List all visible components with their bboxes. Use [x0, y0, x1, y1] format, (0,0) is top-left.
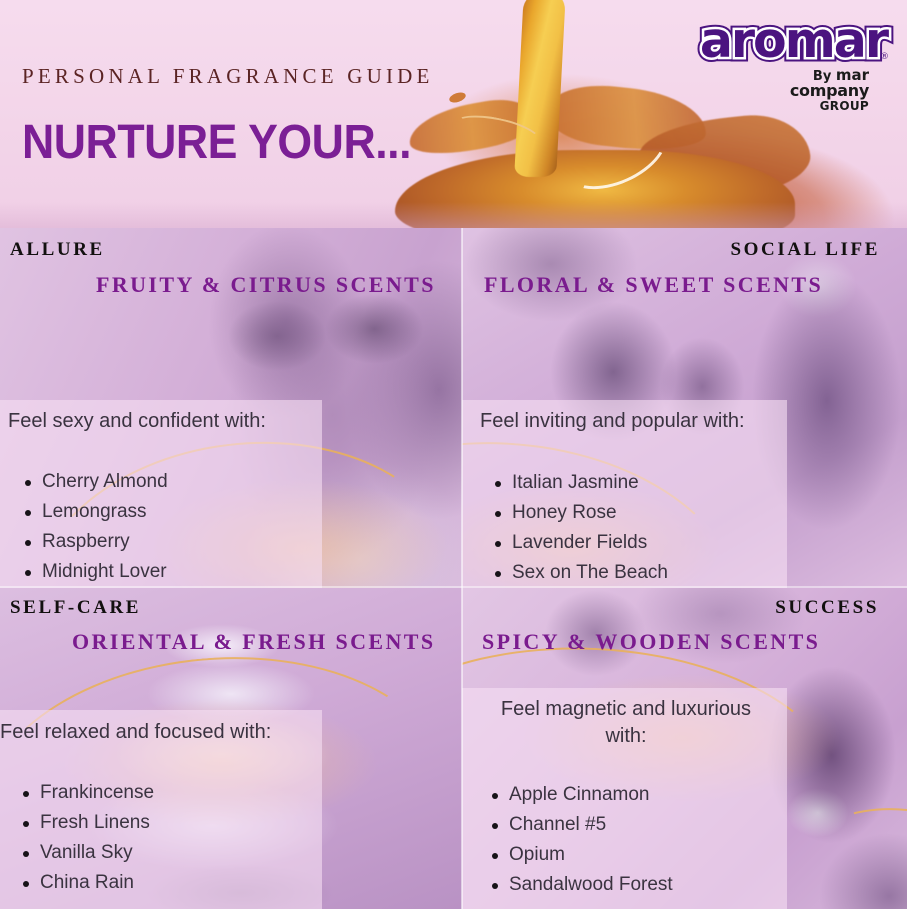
- list-item: Sandalwood Forest: [484, 870, 673, 900]
- category-card-social-life[interactable]: SOCIAL LIFE FLORAL & SWEET SCENTS Feel i…: [462, 228, 907, 588]
- list-item: Frankincense: [15, 778, 154, 808]
- social-life-eyebrow: SOCIAL LIFE: [730, 239, 880, 261]
- category-card-success[interactable]: SUCCESS SPICY & WOODEN SCENTS Feel magne…: [462, 588, 907, 909]
- self-care-scent-list: Frankincense Fresh Linens Vanilla Sky Ch…: [15, 778, 154, 898]
- list-item: Italian Jasmine: [487, 468, 668, 498]
- header-bottom-fade: [0, 202, 907, 228]
- self-care-subtitle: ORIENTAL & FRESH SCENTS: [72, 629, 435, 655]
- category-card-self-care[interactable]: SELF-CARE ORIENTAL & FRESH SCENTS Feel r…: [0, 588, 462, 909]
- aromar-logo: aromar aromar ® By mar company GROUP: [637, 16, 887, 112]
- allure-subtitle: FRUITY & CITRUS SCENTS: [96, 272, 436, 298]
- logo-wordmark: aromar: [700, 16, 887, 65]
- list-item: Channel #5: [484, 810, 673, 840]
- allure-eyebrow: ALLURE: [10, 239, 105, 261]
- list-item: Vanilla Sky: [15, 838, 154, 868]
- category-card-allure[interactable]: ALLURE FRUITY & CITRUS SCENTS Feel sexy …: [0, 228, 462, 588]
- success-lead-text: Feel magnetic and luxurious with:: [486, 696, 766, 750]
- success-subtitle: SPICY & WOODEN SCENTS: [482, 629, 820, 655]
- logo-byline: By mar company GROUP: [790, 68, 869, 112]
- social-life-scent-list: Italian Jasmine Honey Rose Lavender Fiel…: [487, 468, 668, 588]
- logo-group-label: GROUP: [790, 100, 869, 112]
- success-scent-list: Apple Cinnamon Channel #5 Opium Sandalwo…: [484, 780, 673, 900]
- poster-header: PERSONAL FRAGRANCE GUIDE NURTURE YOUR...…: [0, 0, 907, 228]
- fragrance-category-grid: ALLURE FRUITY & CITRUS SCENTS Feel sexy …: [0, 228, 907, 909]
- self-care-lead-text: Feel relaxed and focused with:: [0, 721, 271, 744]
- page-title: NURTURE YOUR...: [22, 115, 411, 170]
- grid-horizontal-divider: [0, 586, 907, 588]
- self-care-eyebrow: SELF-CARE: [10, 597, 141, 619]
- list-item: China Rain: [15, 868, 154, 898]
- list-item: Apple Cinnamon: [484, 780, 673, 810]
- page-kicker: PERSONAL FRAGRANCE GUIDE: [22, 64, 434, 89]
- list-item: Lemongrass: [17, 497, 168, 527]
- list-item: Midnight Lover: [17, 557, 168, 587]
- list-item: Raspberry: [17, 527, 168, 557]
- list-item: Sex on The Beach: [487, 558, 668, 588]
- allure-lead-text: Feel sexy and confident with:: [8, 410, 266, 433]
- grid-vertical-divider: [461, 228, 463, 909]
- list-item: Fresh Linens: [15, 808, 154, 838]
- logo-wordmark-stack: aromar aromar ®: [637, 16, 887, 70]
- logo-company-label: company: [790, 83, 869, 99]
- success-eyebrow: SUCCESS: [775, 597, 879, 619]
- fragrance-guide-poster: PERSONAL FRAGRANCE GUIDE NURTURE YOUR...…: [0, 0, 907, 909]
- allure-scent-list: Cherry Almond Lemongrass Raspberry Midni…: [17, 467, 168, 587]
- list-item: Opium: [484, 840, 673, 870]
- social-life-subtitle: FLORAL & SWEET SCENTS: [484, 272, 823, 298]
- list-item: Honey Rose: [487, 498, 668, 528]
- social-life-lead-text: Feel inviting and popular with:: [480, 410, 745, 433]
- list-item: Lavender Fields: [487, 528, 668, 558]
- list-item: Cherry Almond: [17, 467, 168, 497]
